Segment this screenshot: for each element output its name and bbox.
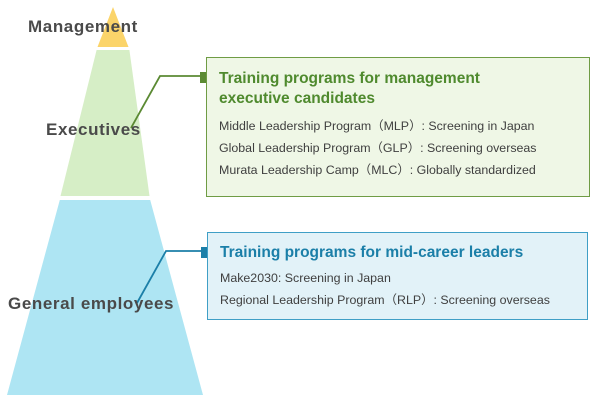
- list-item: Global Leadership Program（GLP）: Screenin…: [219, 142, 579, 154]
- callout-list-executive-candidates: Middle Leadership Program（MLP）: Screenin…: [219, 120, 579, 177]
- list-item: Regional Leadership Program（RLP）: Screen…: [220, 294, 577, 306]
- callout-title-line-1: Training programs for management: [219, 70, 480, 87]
- callout-title-mid-career-leaders: Training programs for mid-career leaders: [220, 243, 577, 263]
- callout-list-mid-career-leaders: Make2030: Screening in Japan Regional Le…: [220, 272, 577, 307]
- callout-inner-mid-career-leaders: Training programs for mid-career leaders…: [208, 233, 587, 307]
- callout-title-line-2: executive candidates: [219, 90, 375, 107]
- list-item: Make2030: Screening in Japan: [220, 272, 577, 284]
- pyramid-label-executives: Executives: [46, 121, 141, 138]
- callout-title-executive-candidates: Training programs for management executi…: [219, 69, 579, 109]
- pyramid-label-management: Management: [28, 18, 138, 35]
- callout-box-mid-career-leaders: Training programs for mid-career leaders…: [207, 232, 588, 320]
- callout-box-executive-candidates: Training programs for management executi…: [206, 57, 590, 197]
- callout-inner-executive-candidates: Training programs for management executi…: [207, 58, 589, 177]
- list-item: Murata Leadership Camp（MLC）: Globally st…: [219, 164, 579, 176]
- pyramid-label-general-employees: General employees: [8, 295, 174, 312]
- diagram-canvas: Management Executives General employees …: [0, 0, 600, 400]
- list-item: Middle Leadership Program（MLP）: Screenin…: [219, 120, 579, 132]
- connector-line-executives: [131, 76, 205, 128]
